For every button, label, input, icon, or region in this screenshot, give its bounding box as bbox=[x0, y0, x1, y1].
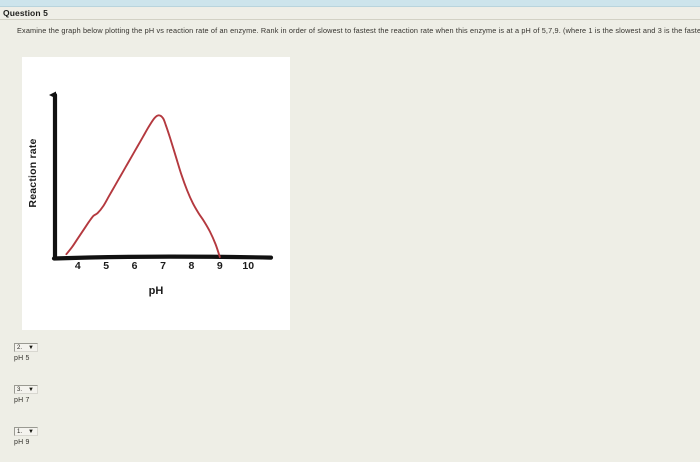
y-axis-label: Reaction rate bbox=[27, 113, 39, 233]
reaction-rate-curve bbox=[66, 115, 219, 257]
answer-row: 3.▼pH 7 bbox=[14, 378, 214, 404]
answer-label: pH 7 bbox=[14, 397, 214, 404]
x-axis-tick-7: 7 bbox=[160, 260, 166, 272]
x-axis-tick-9: 9 bbox=[217, 260, 223, 272]
answer-row: 1.▼pH 9 bbox=[14, 420, 214, 446]
graph-figure: 45678910 pH Reaction rate bbox=[22, 57, 290, 330]
x-axis-tick-10: 10 bbox=[242, 260, 254, 272]
rank-select-ph-5[interactable]: 2.▼ bbox=[14, 343, 38, 352]
question-header: Question 5 bbox=[0, 7, 700, 19]
rank-select-ph-9[interactable]: 1.▼ bbox=[14, 427, 38, 436]
browser-top-bar bbox=[0, 0, 700, 7]
rank-select-ph-7[interactable]: 3.▼ bbox=[14, 385, 38, 394]
answer-list: 2.▼pH 53.▼pH 71.▼pH 9 bbox=[14, 336, 214, 462]
x-axis-tick-4: 4 bbox=[75, 260, 81, 272]
chevron-down-icon: ▼ bbox=[28, 386, 34, 395]
x-axis-tick-5: 5 bbox=[103, 260, 109, 272]
rank-select-value: 1. bbox=[17, 428, 22, 437]
header-divider bbox=[0, 19, 700, 20]
chevron-down-icon: ▼ bbox=[28, 428, 34, 437]
answer-label: pH 9 bbox=[14, 439, 214, 446]
answer-row: 2.▼pH 5 bbox=[14, 336, 214, 362]
x-axis-ticks: 45678910 bbox=[22, 260, 290, 274]
rank-select-value: 3. bbox=[17, 386, 22, 395]
ph-reaction-rate-chart: 45678910 pH Reaction rate bbox=[22, 57, 290, 330]
chevron-down-icon: ▼ bbox=[28, 344, 34, 353]
rank-select-value: 2. bbox=[17, 344, 22, 353]
x-axis-tick-8: 8 bbox=[188, 260, 194, 272]
x-axis-tick-6: 6 bbox=[132, 260, 138, 272]
x-axis-label: pH bbox=[22, 285, 290, 297]
x-axis-line bbox=[54, 257, 271, 259]
question-prompt-text: Examine the graph below plotting the pH … bbox=[17, 26, 689, 36]
answer-label: pH 5 bbox=[14, 355, 214, 362]
